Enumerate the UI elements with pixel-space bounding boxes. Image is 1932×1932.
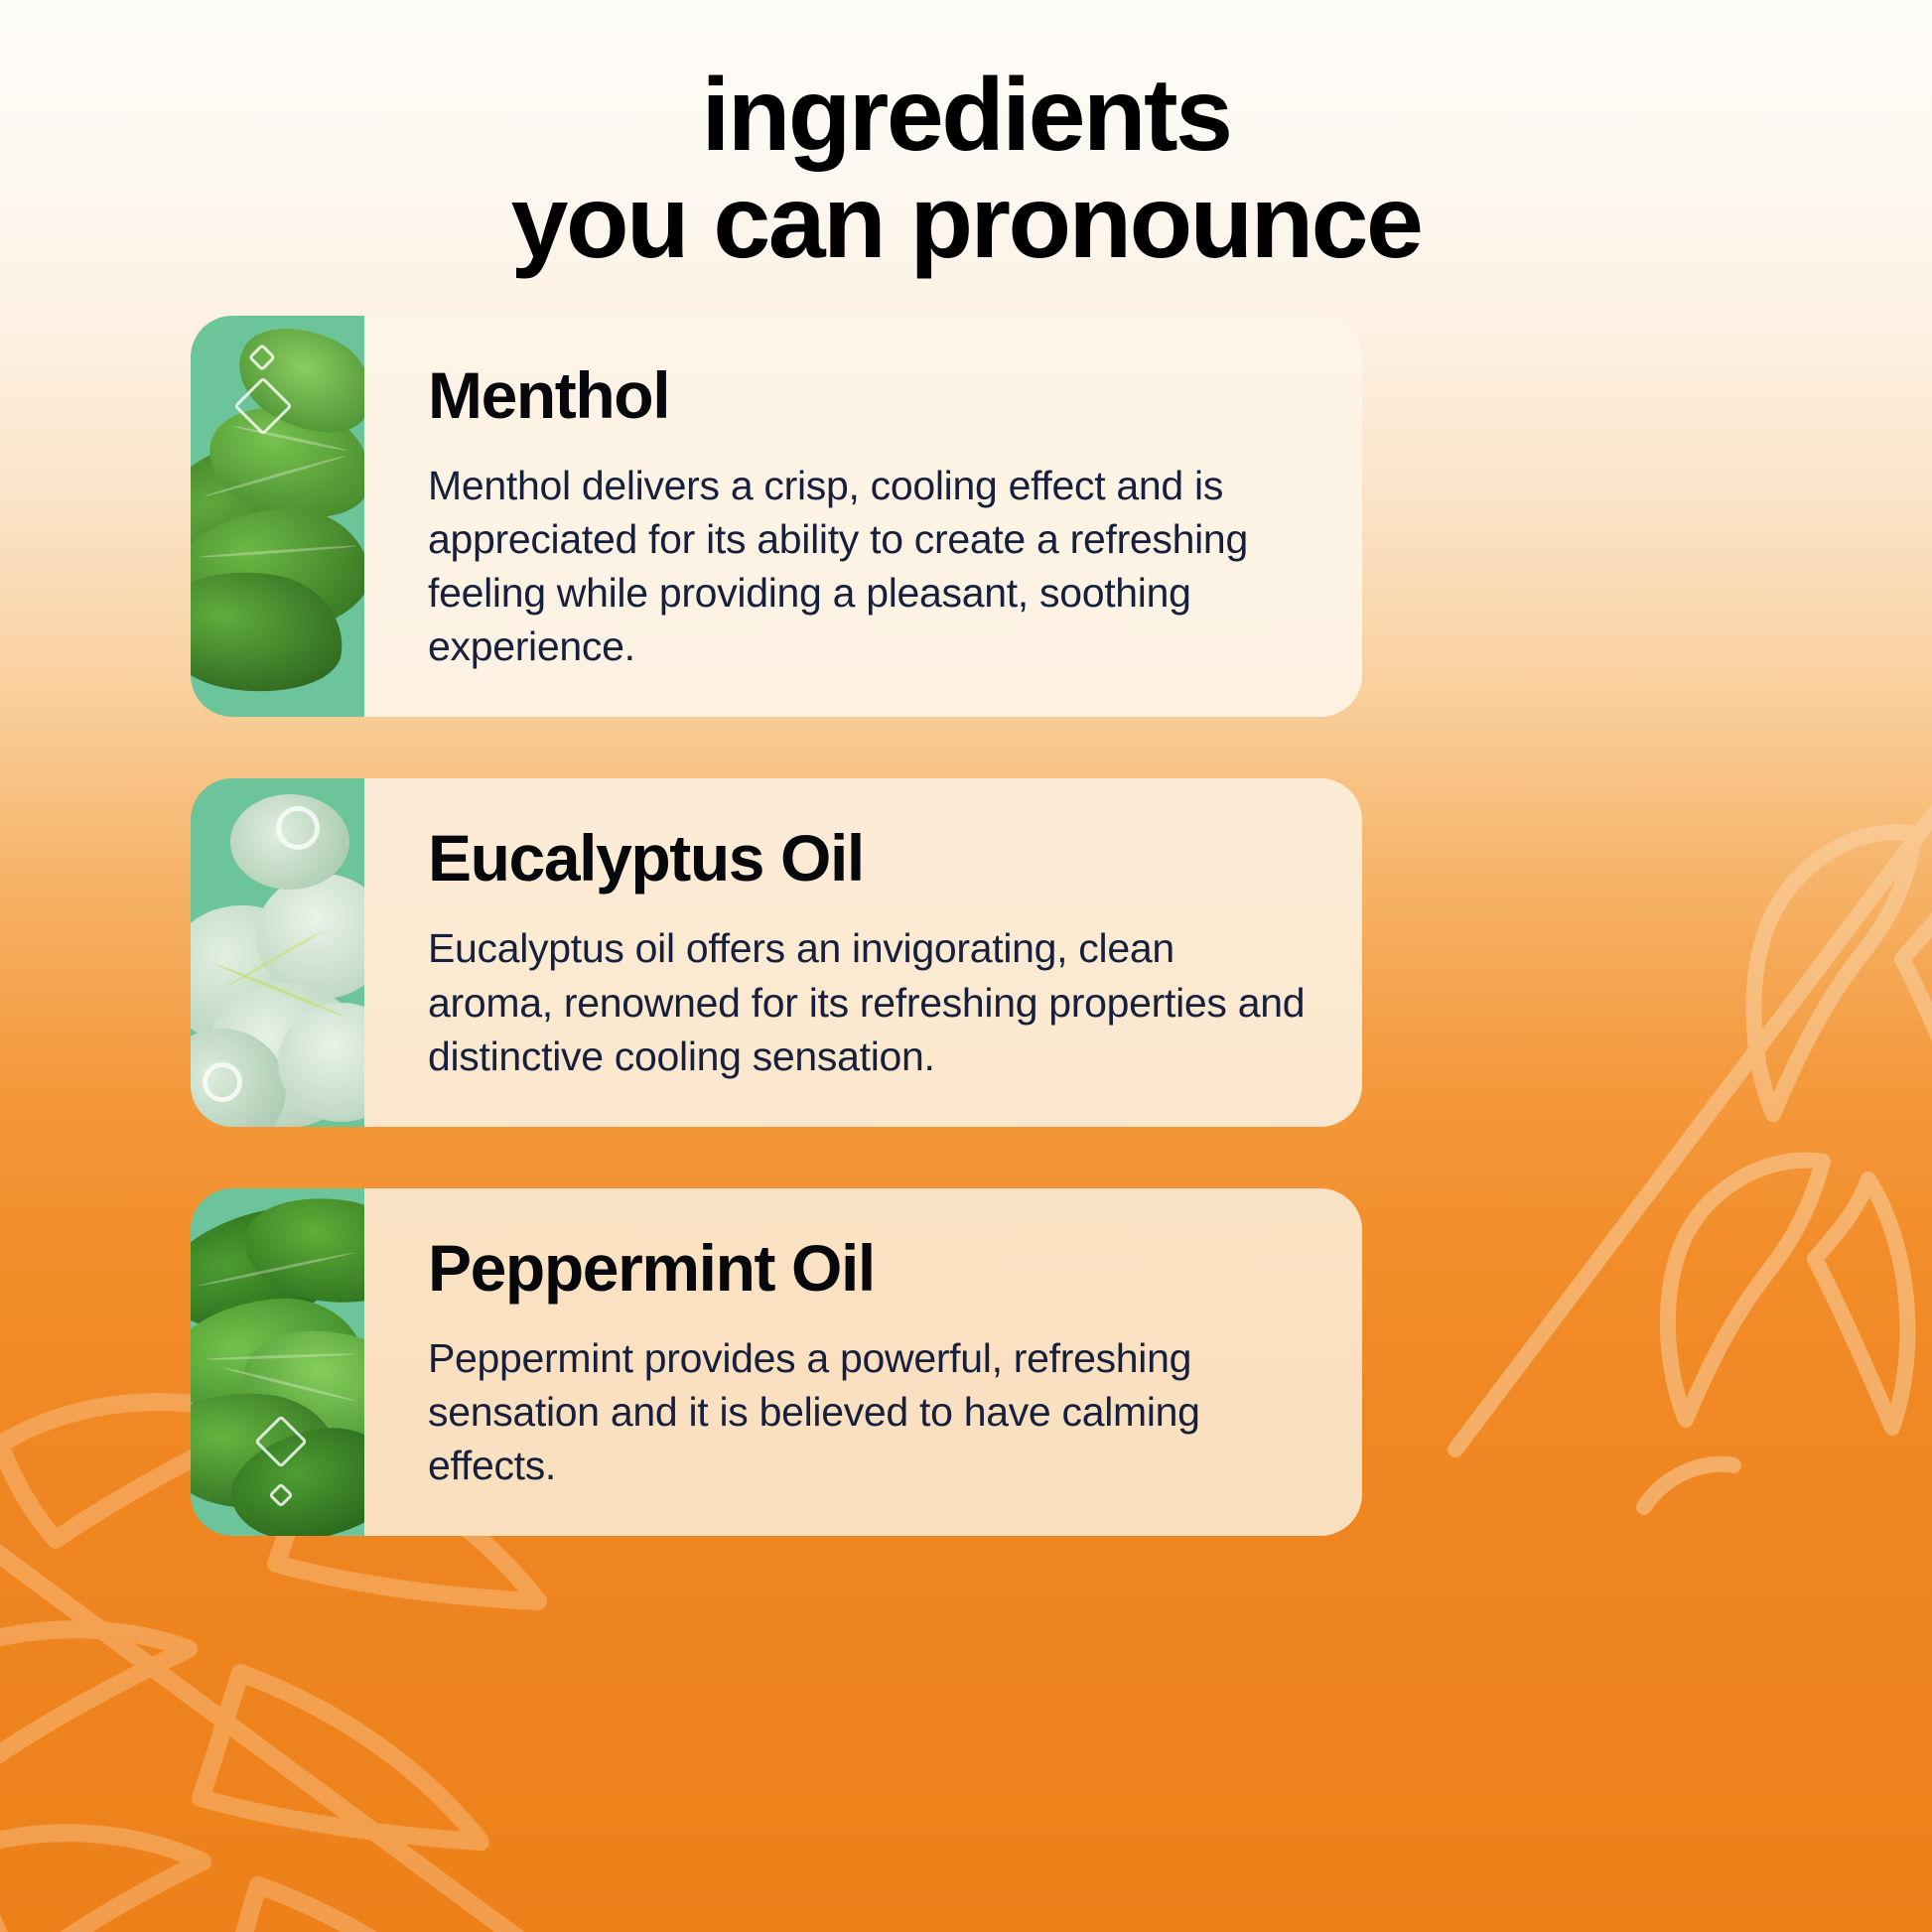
ingredient-card-list: Menthol Menthol delivers a crisp, coolin… <box>191 316 1362 1536</box>
menthol-image-tile <box>191 316 364 717</box>
monstera-leaf-outline-right <box>1307 764 1932 1519</box>
peppermint-leaves-photo <box>191 1188 364 1536</box>
eucalyptus-heading: Eucalyptus Oil <box>428 820 1307 896</box>
ingredients-poster: ingredients you can pronounce <box>0 0 1932 1932</box>
eucalyptus-card-body: Eucalyptus Oil Eucalyptus oil offers an … <box>364 778 1362 1126</box>
title-line-1: ingredients <box>0 62 1932 169</box>
eucalyptus-image-tile <box>191 778 364 1126</box>
peppermint-card-body: Peppermint Oil Peppermint provides a pow… <box>364 1188 1362 1536</box>
peppermint-description: Peppermint provides a powerful, refreshi… <box>428 1331 1307 1492</box>
title-line-2: you can pronounce <box>0 169 1932 276</box>
peppermint-heading: Peppermint Oil <box>428 1230 1307 1306</box>
mint-leaves-photo <box>191 316 364 717</box>
ingredient-card-peppermint-oil: Peppermint Oil Peppermint provides a pow… <box>191 1188 1362 1536</box>
menthol-card-body: Menthol Menthol delivers a crisp, coolin… <box>364 316 1362 717</box>
ingredient-card-eucalyptus-oil: Eucalyptus Oil Eucalyptus oil offers an … <box>191 778 1362 1126</box>
eucalyptus-description: Eucalyptus oil offers an invigorating, c… <box>428 921 1307 1082</box>
page-title: ingredients you can pronounce <box>0 62 1932 276</box>
menthol-heading: Menthol <box>428 357 1307 433</box>
peppermint-image-tile <box>191 1188 364 1536</box>
ingredient-card-menthol: Menthol Menthol delivers a crisp, coolin… <box>191 316 1362 717</box>
menthol-description: Menthol delivers a crisp, cooling effect… <box>428 459 1307 673</box>
